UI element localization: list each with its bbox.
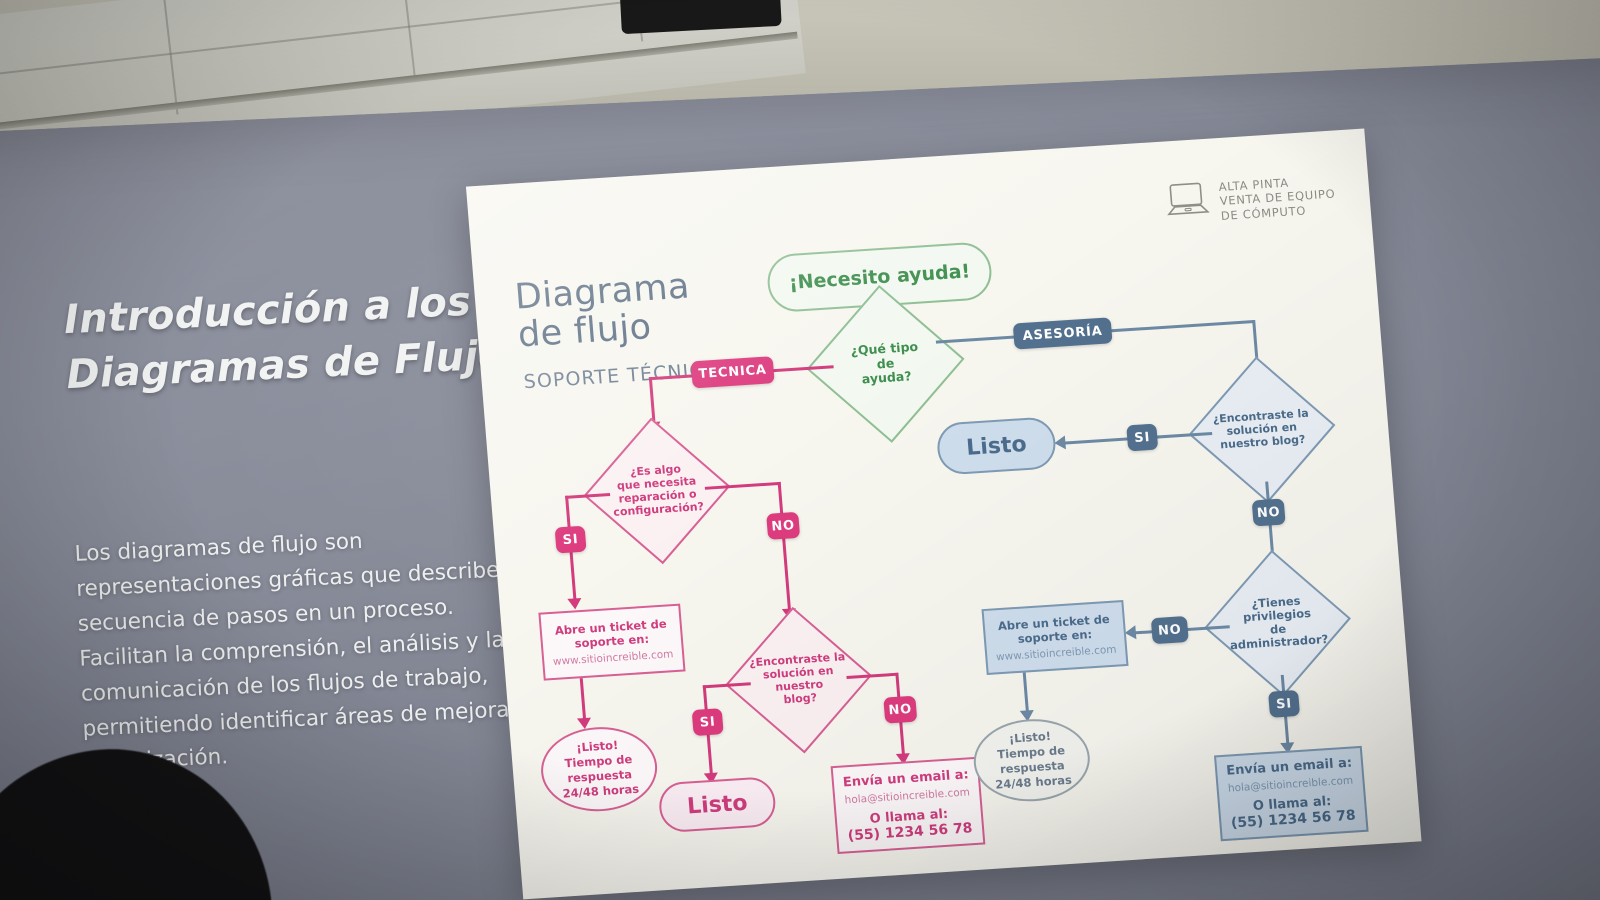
edge-label-si-admin: SI: [1268, 690, 1300, 718]
node-email-pink-address: hola@sitioincreible.com: [844, 786, 970, 806]
node-ready-pink: ¡Listo! Tiempo de respuesta 24/48 horas: [538, 724, 661, 815]
node-email-blue-phone: (55) 1234 56 78: [1230, 807, 1356, 831]
node-ticket-pink-title: Abre un ticket de soporte en:: [554, 616, 668, 652]
edge-ticketblue-to-ready: [1023, 672, 1029, 714]
edge-label-tecnica: TECNICA: [691, 356, 775, 388]
edge-ticket-to-ready-pink: [580, 678, 586, 721]
flowchart-canvas: Diagrama de flujo SOPORTE TÉCNICO ALTA P…: [466, 129, 1422, 900]
edge-label-no-blog-pink-text: NO: [888, 701, 913, 717]
edge-label-si-repair: SI: [555, 526, 587, 554]
node-listo-blue: Listo: [935, 416, 1057, 475]
node-question-blog-blue: ¿Encontraste la solución en nuestro blog…: [1189, 356, 1336, 503]
edge-label-si-blog-pink-text: SI: [699, 714, 716, 730]
flowchart-card: Diagrama de flujo SOPORTE TÉCNICO ALTA P…: [466, 129, 1422, 900]
photo-of-projected-slide: Introducción a los Diagramas de Flujo Lo…: [0, 0, 1600, 900]
node-listo-pink-label: Listo: [686, 790, 748, 819]
node-ticket-blue-title: Abre un ticket de soporte en:: [997, 612, 1111, 648]
node-question-blog-pink-label: ¿Encontraste la solución en nuestro blog…: [747, 651, 851, 709]
node-question-repair-label: ¿Es algo que necesita reparación o confi…: [605, 462, 709, 520]
edge-label-no-repair-text: NO: [771, 518, 796, 534]
slide-body-paragraph: Los diagramas de flujo son representacio…: [74, 517, 555, 782]
edge-label-no-blog-blue: NO: [1252, 498, 1286, 526]
projection-screen: Introducción a los Diagramas de Flujo Lo…: [0, 55, 1600, 900]
node-question-blog-pink: ¿Encontraste la solución en nuestro blog…: [725, 607, 872, 754]
node-email-pink: Envía un email a: hola@sitioincreible.co…: [831, 757, 986, 854]
edge-label-no-repair: NO: [766, 512, 800, 540]
node-email-blue: Envía un email a: hola@sitioincreible.co…: [1214, 746, 1369, 841]
edge-label-no-blog-blue-text: NO: [1256, 504, 1281, 520]
node-ticket-blue-url: www.sitioincreible.com: [996, 644, 1117, 664]
node-ticket-pink-url: www.sitioincreible.com: [553, 649, 674, 669]
edge-label-asesoria-text: ASESORÍA: [1022, 323, 1103, 343]
edge-label-si-blog-blue-text: SI: [1134, 429, 1151, 445]
edge-label-tecnica-text: TECNICA: [698, 363, 767, 382]
diagram-title: Diagrama de flujo: [514, 268, 695, 355]
node-question-blog-blue-label: ¿Encontraste la solución en nuestro blog…: [1211, 407, 1314, 452]
node-ready-pink-label: ¡Listo! Tiempo de respuesta 24/48 horas: [558, 736, 639, 801]
node-listo-pink: Listo: [657, 776, 777, 833]
node-question-help-type-label: ¿Qué tipo de ayuda?: [830, 339, 941, 390]
edge-label-si-repair-text: SI: [562, 532, 579, 548]
edge-label-si-blog-blue: SI: [1126, 424, 1158, 452]
node-question-admin-label: ¿Tienes privilegios de administrador?: [1226, 593, 1330, 653]
node-ready-blue-label: ¡Listo! Tiempo de respuesta 24/48 horas: [991, 728, 1072, 793]
node-question-repair: ¿Es algo que necesita reparación o confi…: [584, 418, 731, 565]
node-ticket-blue: Abre un ticket de soporte en: www.sitioi…: [981, 600, 1128, 675]
node-ready-blue: ¡Listo! Tiempo de respuesta 24/48 horas: [971, 716, 1093, 805]
slide-body-text: Los diagramas de flujo son representacio…: [74, 517, 555, 782]
node-listo-blue-label: Listo: [965, 432, 1027, 461]
edge-repair-no-v: [778, 482, 792, 613]
laptop-icon: [1163, 181, 1212, 218]
brand-logo: ALTA PINTA VENTA DE EQUIPO DE CÓMPUTO: [1163, 173, 1337, 227]
edge-label-no-admin-text: NO: [1157, 622, 1182, 638]
arrow-blogblue-si: [1054, 435, 1066, 450]
edge-label-asesoria: ASESORÍA: [1013, 317, 1113, 349]
arrow-repair-si: [567, 598, 582, 610]
edge-label-si-blog-pink: SI: [692, 708, 724, 736]
page-title: Introducción a los Diagramas de Flujo: [63, 272, 538, 404]
node-email-blue-address: hola@sitioincreible.com: [1228, 775, 1354, 795]
edge-label-no-blog-pink: NO: [883, 696, 917, 724]
node-email-pink-phone: (55) 1234 56 78: [847, 820, 973, 844]
brand-logo-text: ALTA PINTA VENTA DE EQUIPO DE CÓMPUTO: [1218, 173, 1337, 223]
edge-label-no-admin: NO: [1151, 616, 1189, 644]
node-question-admin: ¿Tienes privilegios de administrador?: [1204, 550, 1351, 697]
edge-label-si-admin-text: SI: [1276, 696, 1293, 712]
node-ticket-pink: Abre un ticket de soporte en: www.sitioi…: [538, 604, 685, 681]
